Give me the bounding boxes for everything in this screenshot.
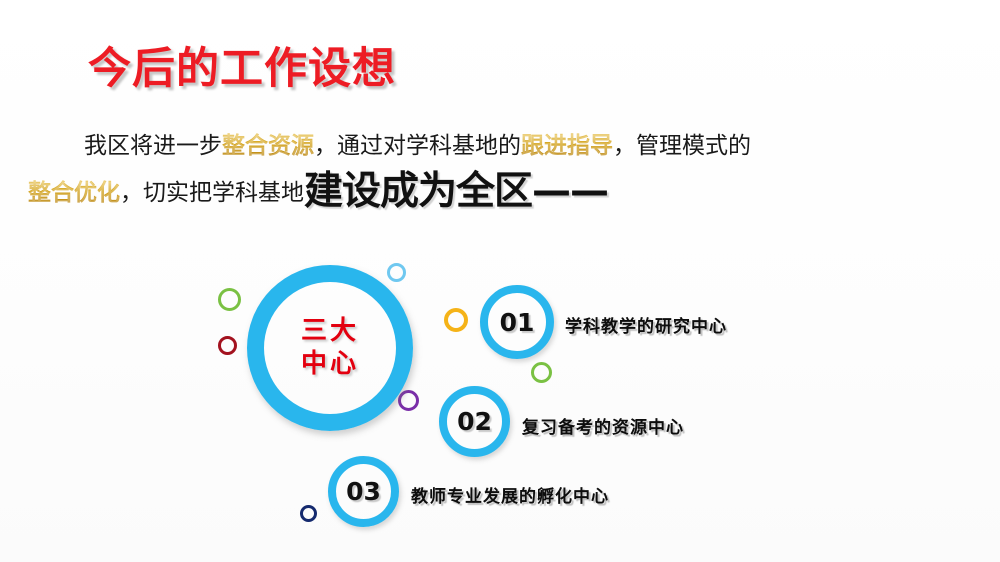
node-02-number: 02 — [439, 386, 510, 457]
paragraph-line-2: 整合优化，切实把学科基地建设成为全区—— — [28, 169, 972, 216]
three-centers-diagram: 三大 中心 01 学科教学的研究中心 02 复习备考的资源中心 03 教师专业发… — [0, 236, 1000, 562]
highlight-zhenghe-youhua: 整合优化 — [28, 179, 120, 206]
hub-label-line-1: 三大 — [301, 315, 359, 348]
node-02-label: 复习备考的资源中心 — [522, 413, 684, 438]
body-paragraph: 我区将进一步整合资源，通过对学科基地的跟进指导，管理模式的 整合优化，切实把学科… — [28, 123, 972, 216]
paragraph-seg-5: ，管理模式的 — [613, 133, 751, 159]
darkred-ring-left-icon — [218, 336, 237, 355]
paragraph-seg-3: ，通过对学科基地的 — [314, 133, 521, 159]
navy-ring-bottom-left-icon — [300, 505, 317, 522]
node-03-number: 03 — [328, 456, 399, 527]
emphasis-jianshe-chengwei-quanqu: 建设成为全区—— — [304, 169, 608, 214]
node-03-label: 教师专业发展的孵化中心 — [411, 482, 609, 507]
amber-ring-mid-icon — [444, 308, 468, 332]
hub-label: 三大 中心 — [247, 265, 413, 431]
paragraph-seg-7: ，切实把学科基地 — [120, 180, 304, 206]
highlight-zhenghe-ziyuan: 整合资源 — [222, 132, 314, 159]
slide-canvas: 今后的工作设想 我区将进一步整合资源，通过对学科基地的跟进指导，管理模式的 整合… — [0, 0, 1000, 562]
green-ring-right-icon — [531, 362, 552, 383]
green-ring-upper-left-icon — [218, 288, 241, 311]
paragraph-seg-1: 我区将进一步 — [84, 133, 222, 159]
hub-label-line-2: 中心 — [301, 348, 359, 381]
node-01-number: 01 — [480, 285, 554, 359]
page-title: 今后的工作设想 — [88, 34, 396, 96]
highlight-genjin-zhidao: 跟进指导 — [521, 132, 613, 159]
paragraph-line-1: 我区将进一步整合资源，通过对学科基地的跟进指导，管理模式的 — [28, 123, 972, 169]
node-01-label: 学科教学的研究中心 — [565, 312, 727, 337]
